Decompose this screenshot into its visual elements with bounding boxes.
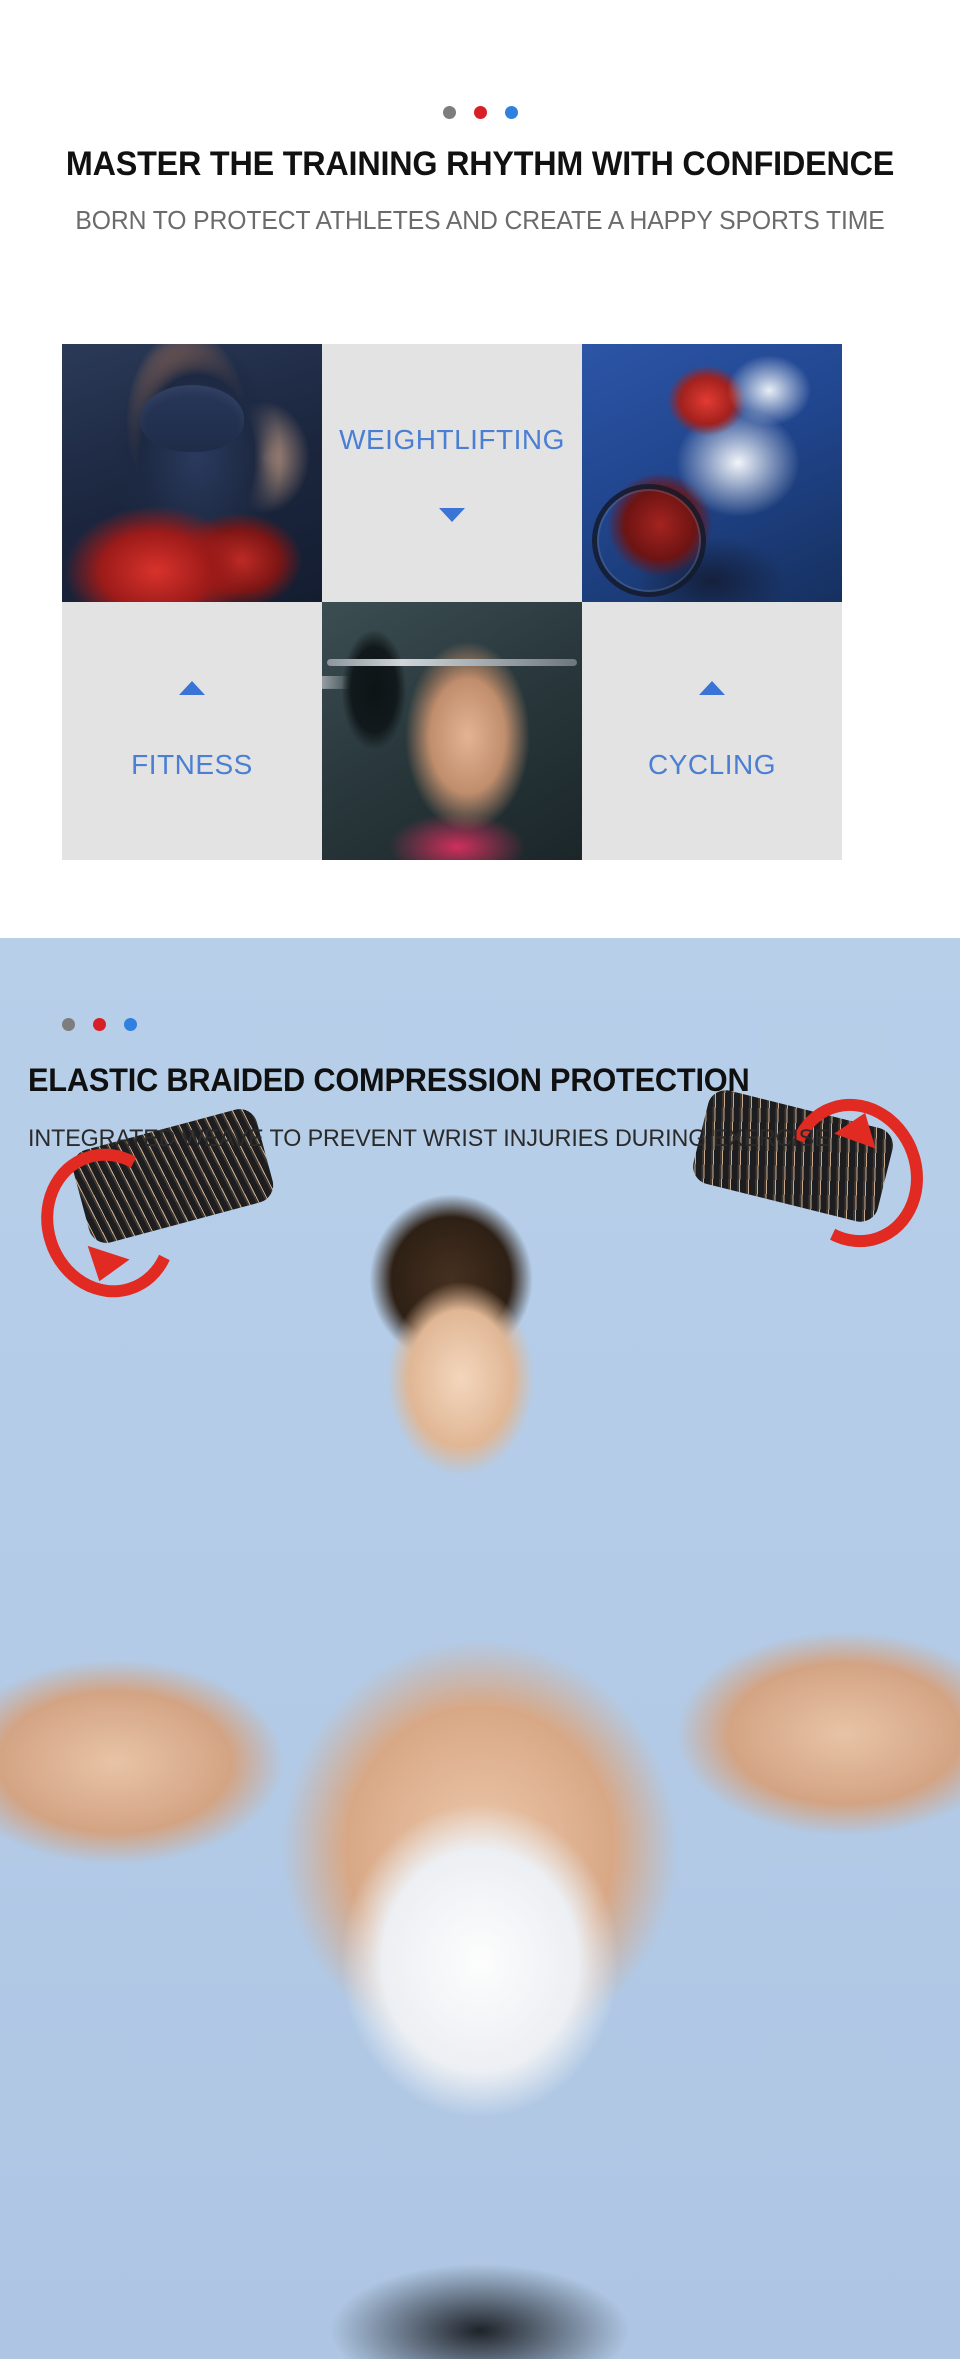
photo-dumbbell-athlete	[62, 344, 322, 602]
section1-title: MASTER THE TRAINING RHYTHM WITH CONFIDEN…	[24, 145, 936, 184]
section1-subtitle: BORN TO PROTECT ATHLETES AND CREATE A HA…	[24, 205, 936, 236]
dot-blue-icon	[124, 1018, 137, 1031]
grid-cell-fitness[interactable]: FITNESS	[62, 602, 322, 860]
photo-cyclist	[582, 344, 842, 602]
dot-grey-icon	[443, 106, 456, 119]
product-detail-page: MASTER THE TRAINING RHYTHM WITH CONFIDEN…	[0, 0, 960, 2359]
dot-grey-icon	[62, 1018, 75, 1031]
dot-red-icon	[474, 106, 487, 119]
sport-category-grid: WEIGHTLIFTING FITNESS CYCLING	[62, 344, 898, 860]
grid-cell-weightlifting[interactable]: WEIGHTLIFTING	[322, 344, 582, 602]
section-elastic-compression: ELASTIC BRAIDED COMPRESSION PROTECTION I…	[0, 938, 960, 2359]
section2-subtitle: INTEGRATED WEAVE TO PREVENT WRIST INJURI…	[28, 1125, 830, 1153]
decorative-dots-section2	[62, 1018, 137, 1031]
dot-red-icon	[93, 1018, 106, 1031]
section2-title: ELASTIC BRAIDED COMPRESSION PROTECTION	[28, 1062, 750, 1099]
grid-cell-photo-barbell	[322, 602, 582, 860]
chevron-up-icon	[699, 681, 725, 695]
label-weightlifting: WEIGHTLIFTING	[339, 424, 565, 456]
decorative-dots-top	[0, 106, 960, 119]
label-cycling: CYCLING	[648, 749, 776, 781]
dot-blue-icon	[505, 106, 518, 119]
section-training-rhythm: MASTER THE TRAINING RHYTHM WITH CONFIDEN…	[0, 0, 960, 938]
chevron-down-icon	[439, 508, 465, 522]
grid-cell-photo-dumbbell	[62, 344, 322, 602]
grid-cell-cycling[interactable]: CYCLING	[582, 602, 842, 860]
grid-cell-photo-cyclist	[582, 344, 842, 602]
chevron-up-icon	[179, 681, 205, 695]
label-fitness: FITNESS	[131, 749, 253, 781]
photo-barbell-squat	[322, 602, 582, 860]
